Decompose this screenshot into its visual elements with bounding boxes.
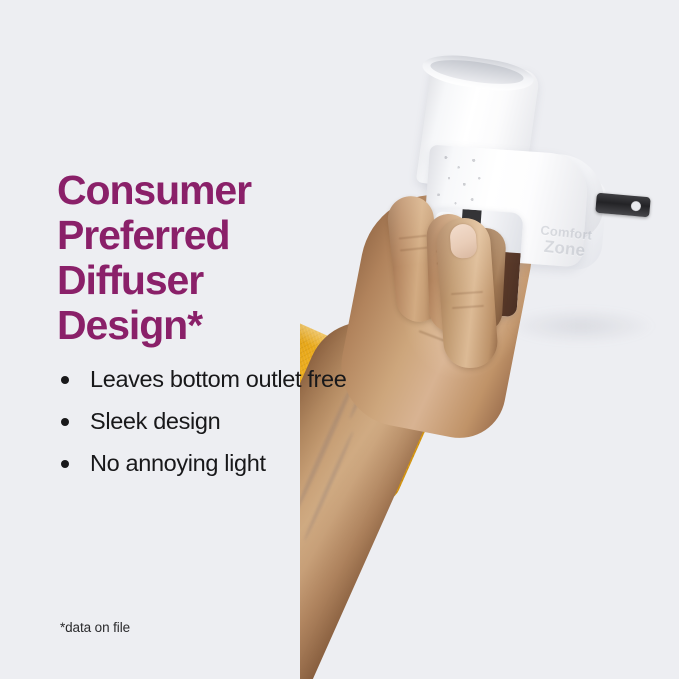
headline-line-2: Preferred bbox=[57, 213, 357, 258]
list-item: Leaves bottom outlet free bbox=[58, 366, 358, 393]
footnote: *data on file bbox=[60, 620, 130, 635]
headline-block: Consumer Preferred Diffuser Design* bbox=[57, 168, 357, 348]
headline-line-4: Design* bbox=[57, 303, 357, 348]
bullet-dot-icon bbox=[61, 376, 69, 384]
bullet-label: No annoying light bbox=[90, 450, 358, 477]
bullet-label: Leaves bottom outlet free bbox=[90, 366, 358, 393]
list-item: Sleek design bbox=[58, 408, 358, 435]
product-feature-image: Comfort Zone Consumer bbox=[0, 0, 679, 679]
device-shadow bbox=[506, 308, 656, 344]
bullet-dot-icon bbox=[61, 460, 69, 468]
thumbnail bbox=[449, 223, 477, 259]
bullet-label: Sleek design bbox=[90, 408, 358, 435]
thumb bbox=[435, 216, 499, 369]
headline-line-3: Diffuser bbox=[57, 258, 357, 303]
brand-logo: Comfort Zone bbox=[526, 222, 604, 268]
page-title: Consumer Preferred Diffuser Design* bbox=[57, 168, 357, 348]
plug-prong-hole bbox=[631, 201, 642, 212]
feature-bullet-list: Leaves bottom outlet free Sleek design N… bbox=[58, 366, 358, 477]
bullet-dot-icon bbox=[61, 418, 69, 426]
headline-line-1: Consumer bbox=[57, 168, 357, 213]
list-item: No annoying light bbox=[58, 450, 358, 477]
